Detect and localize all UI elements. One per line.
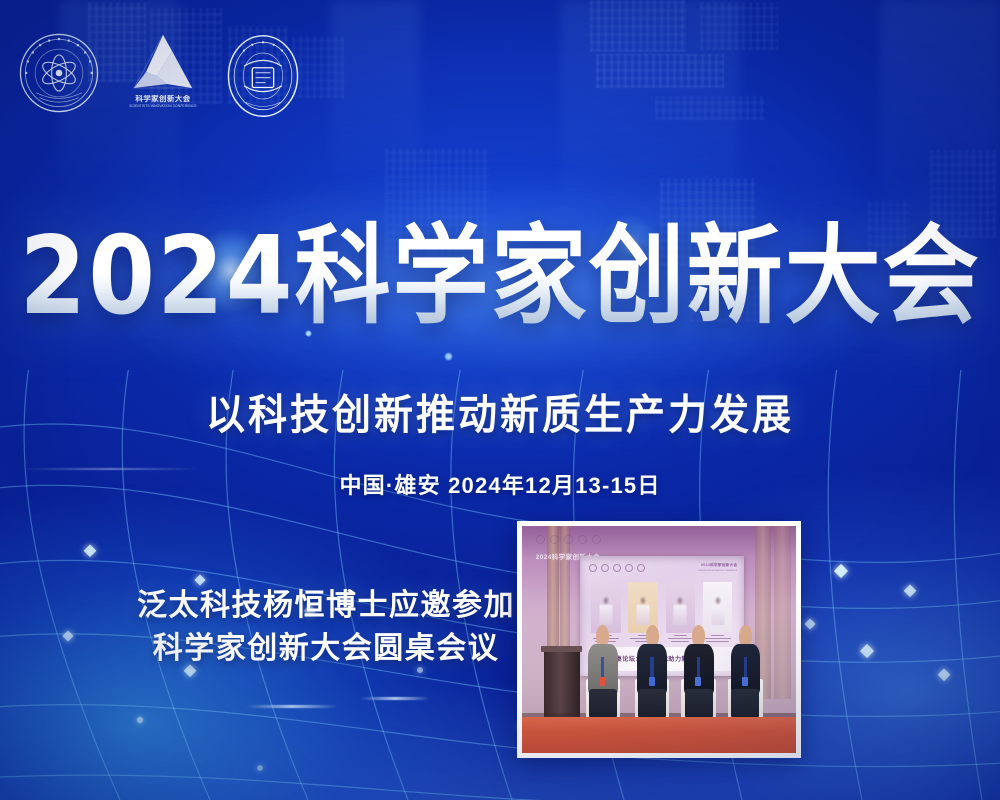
panelist <box>582 626 623 717</box>
backdrop-logos <box>536 535 601 544</box>
logo-xiongan-new-area <box>226 32 300 125</box>
roundtable-panel-photo: 2024科学家创新大会 2024科学家创新大会 SCIENTISTS INNOV… <box>522 526 796 753</box>
triangle-mark-icon <box>131 32 195 92</box>
caption-block: 泛太科技杨恒博士应邀参加 科学家创新大会圆桌会议 <box>130 585 522 670</box>
xiongan-seal-icon <box>226 32 300 120</box>
event-location-date: 中国·雄安 2024年12月13-15日 <box>0 468 1000 500</box>
caption-line-2: 科学家创新大会圆桌会议 <box>130 628 522 671</box>
panelist <box>725 626 766 717</box>
caption-line-1: 泛太科技杨恒博士应邀参加 <box>137 589 515 622</box>
logo-wordmark: 科学家创新大会 <box>123 95 203 103</box>
screen-title: 2024科学家创新大会 <box>701 563 737 568</box>
page-subtitle: 以科技创新推动新质生产力发展 <box>0 382 1000 441</box>
screen-logo-row <box>589 564 645 572</box>
panelist <box>632 626 673 717</box>
cast-seal-icon <box>18 32 100 114</box>
logo-wordmark-sub: SCIENTISTS INNOVATION CONFERENCE <box>120 104 206 108</box>
logo-china-association-for-science-and-technology <box>18 32 100 119</box>
panelist <box>678 626 719 717</box>
roundtable-photo-frame: 2024科学家创新大会 2024科学家创新大会 SCIENTISTS INNOV… <box>517 521 801 758</box>
logo-scientists-innovation-conference: 科学家创新大会 SCIENTISTS INNOVATION CONFERENCE <box>124 32 202 124</box>
spark <box>444 352 453 361</box>
podium <box>544 649 580 717</box>
stage-floor <box>522 717 796 753</box>
conference-poster: 科学家创新大会 SCIENTISTS INNOVATION CONFERENCE <box>0 0 1000 800</box>
page-title: 2024科学家创新大会 <box>0 220 1000 334</box>
screen-subtitle: SCIENTISTS INNOVATION CONFERENCE <box>698 570 737 572</box>
organizer-logos: 科学家创新大会 SCIENTISTS INNOVATION CONFERENCE <box>18 32 300 125</box>
